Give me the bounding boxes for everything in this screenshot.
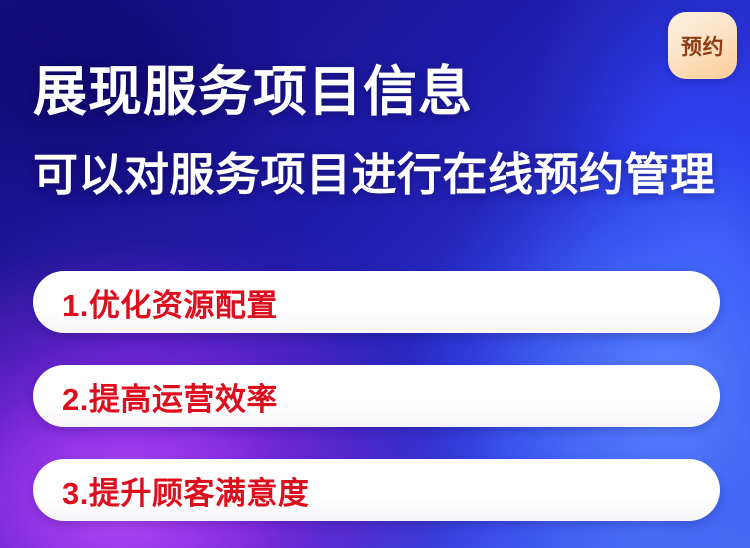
promo-banner: 预约 展现服务项目信息 可以对服务项目进行在线预约管理 1.优化资源配置 2.提… — [0, 0, 750, 548]
page-title: 展现服务项目信息 — [33, 62, 716, 122]
page-subtitle: 可以对服务项目进行在线预约管理 — [33, 150, 716, 200]
list-item-label: 1.优化资源配置 — [62, 280, 278, 325]
feature-pill-list: 1.优化资源配置 2.提高运营效率 3.提升顾客满意度 — [33, 271, 720, 521]
list-item[interactable]: 1.优化资源配置 — [33, 271, 720, 333]
list-item-label: 3.提升顾客满意度 — [62, 468, 309, 513]
booking-badge-label: 预约 — [681, 31, 724, 61]
list-item-label: 2.提高运营效率 — [62, 374, 278, 419]
list-item[interactable]: 2.提高运营效率 — [33, 365, 720, 427]
headline-group: 展现服务项目信息 可以对服务项目进行在线预约管理 — [33, 62, 716, 201]
list-item[interactable]: 3.提升顾客满意度 — [33, 459, 720, 521]
booking-badge[interactable]: 预约 — [668, 12, 737, 79]
